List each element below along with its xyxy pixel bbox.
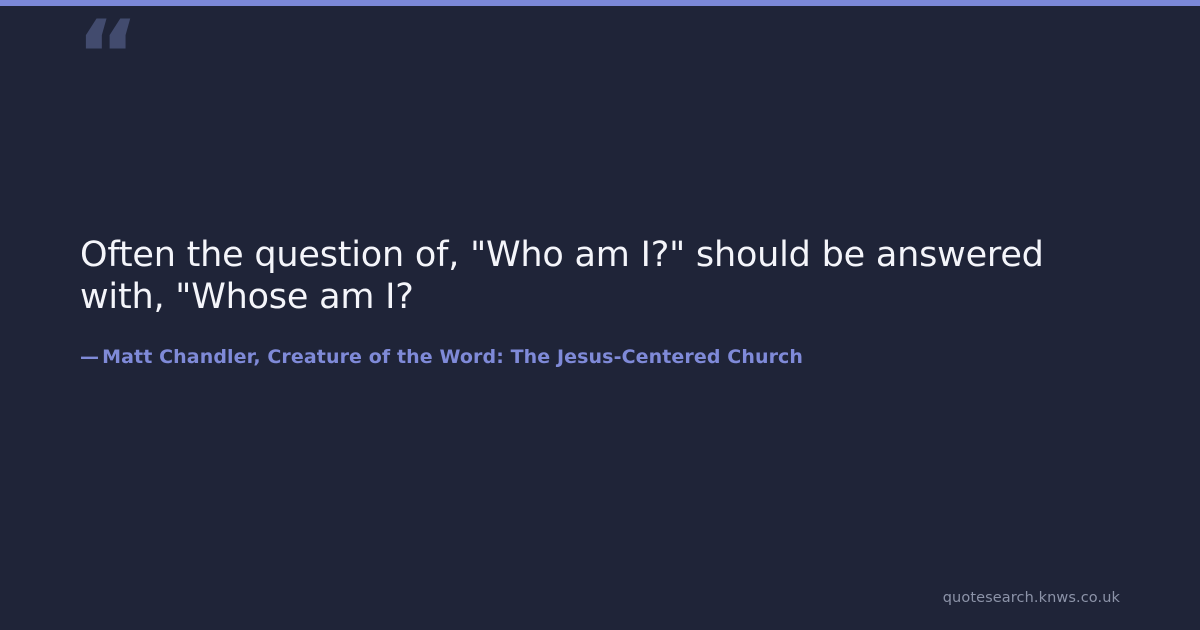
- quote-attribution: —Matt Chandler, Creature of the Word: Th…: [80, 344, 1126, 370]
- quote-text: Often the question of, "Who am I?" shoul…: [80, 234, 1126, 318]
- top-accent-bar: [0, 0, 1200, 6]
- attribution-dash: —: [80, 346, 99, 368]
- quote-content: Often the question of, "Who am I?" shoul…: [80, 234, 1126, 370]
- open-quote-icon: “: [76, 8, 137, 104]
- attribution-author-source: Matt Chandler, Creature of the Word: The…: [102, 346, 803, 368]
- footer-site-watermark: quotesearch.knws.co.uk: [943, 588, 1120, 608]
- quote-card: “ Often the question of, "Who am I?" sho…: [0, 0, 1200, 630]
